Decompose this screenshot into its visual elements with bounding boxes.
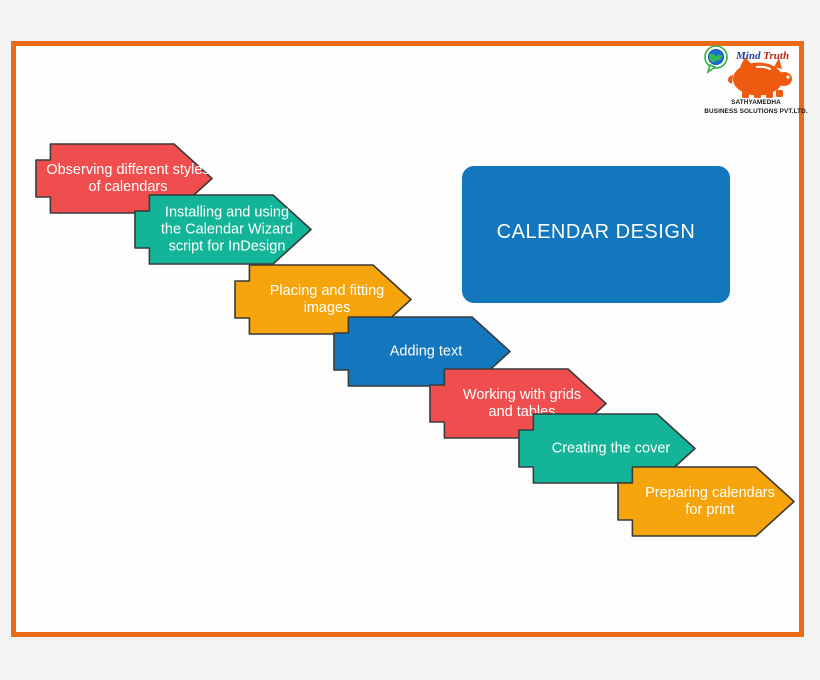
sathyamedha-logo: Mind Truth SATHYAMEDHA BUSINESS SOLUTION… (700, 43, 812, 121)
logo-company-line2: BUSINESS SOLUTIONS PVT.LTD. (700, 108, 812, 117)
piggy-bank-shape (728, 57, 792, 98)
process-step-2[interactable]: Installing and usingthe Calendar Wizards… (135, 195, 311, 264)
step-label: Installing and usingthe Calendar Wizards… (161, 204, 293, 254)
piggy-eye-icon (786, 75, 789, 78)
process-flow-diagram: Observing different stylesof calendarsIn… (0, 0, 820, 680)
globe-icon (708, 49, 723, 64)
step-label: Creating the cover (552, 440, 671, 456)
calendar-design-box[interactable]: CALENDAR DESIGN (462, 166, 730, 303)
center-box-title: CALENDAR DESIGN (497, 221, 696, 243)
process-step-7[interactable]: Preparing calendarsfor print (618, 467, 794, 536)
logo-company-line1: SATHYAMEDHA (700, 99, 812, 108)
logo-wordmark-part2: Truth (763, 50, 789, 62)
logo-company-name: SATHYAMEDHA BUSINESS SOLUTIONS PVT.LTD. (700, 99, 812, 116)
center-box-group: CALENDAR DESIGN (462, 166, 730, 303)
step-label: Adding text (390, 343, 463, 359)
logo-mark: Mind Truth (700, 43, 812, 99)
logo-wordmark-part1: Mind (736, 50, 760, 62)
diagram-canvas: Observing different stylesof calendarsIn… (0, 0, 820, 680)
logo-wordmark: Mind Truth (736, 50, 789, 62)
